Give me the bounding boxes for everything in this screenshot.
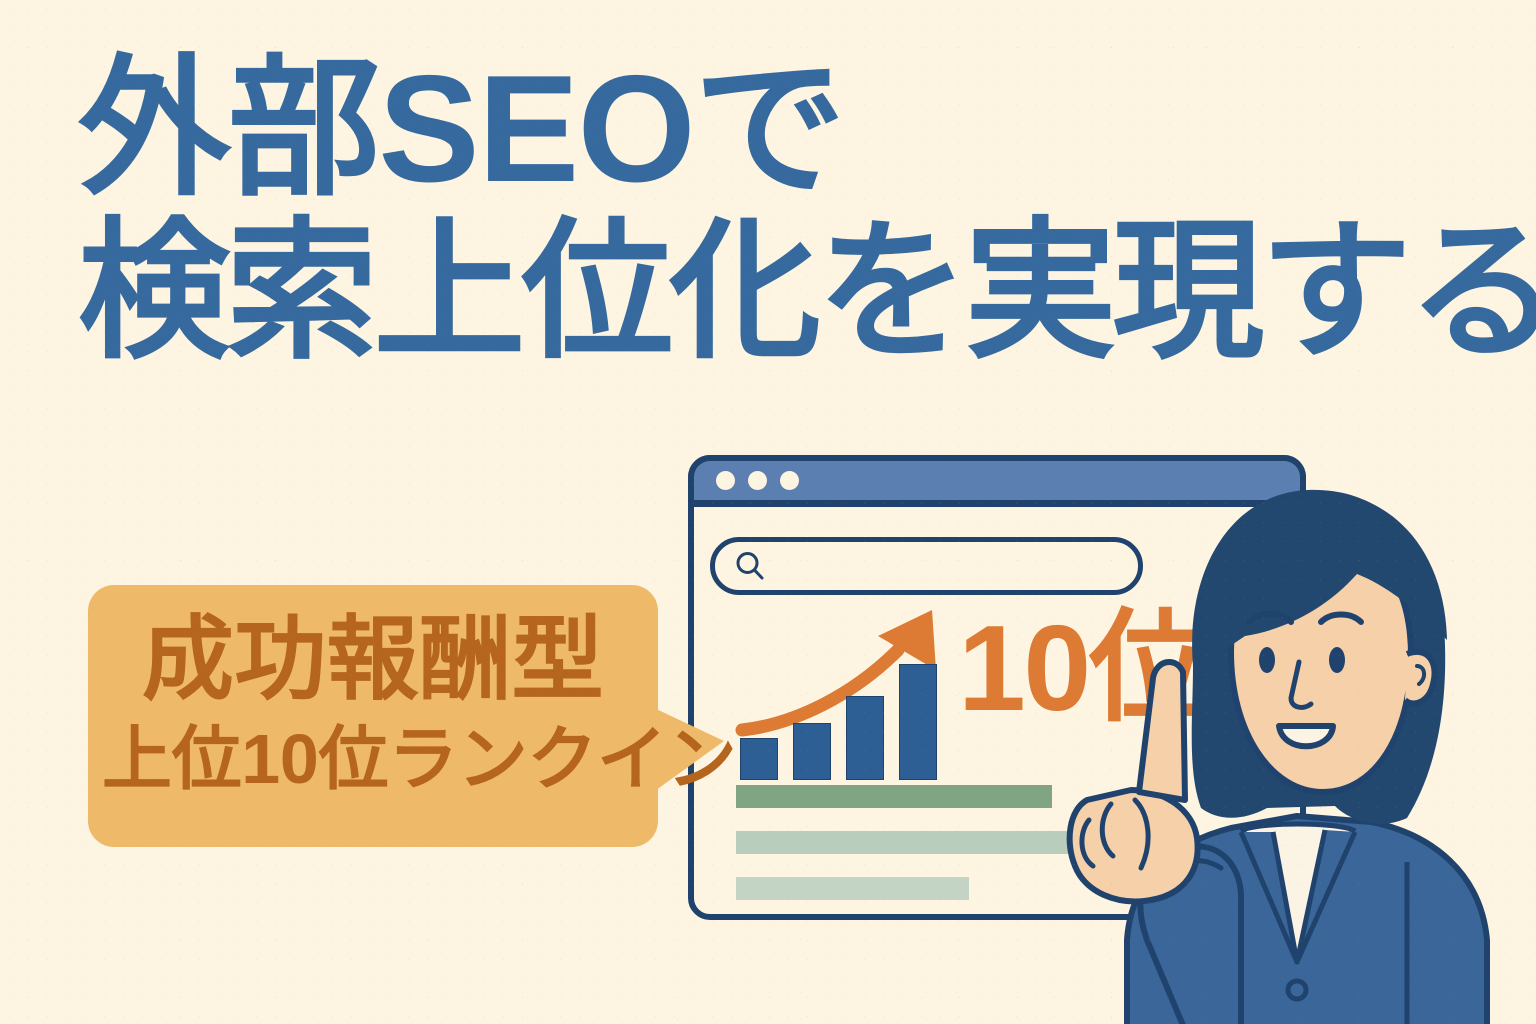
page-title: 外部SEOで 検索上位化を実現する: [78, 52, 1536, 370]
chart-bar: [793, 723, 831, 780]
chart-bar: [899, 664, 937, 780]
woman-figure-icon: [1035, 470, 1535, 1024]
promo-badge: 成功報酬型 上位10位ランクイン: [88, 585, 658, 847]
badge-line-2: 上位10位ランクイン: [102, 722, 672, 798]
window-close-dot-icon[interactable]: [716, 471, 735, 490]
result-bar-3: [736, 877, 969, 900]
chart-bar: [846, 696, 884, 780]
pointing-hand-icon: [1070, 662, 1198, 901]
business-woman-illustration: [1035, 470, 1535, 1024]
headline-line-2: 検索上位化を実現する: [78, 215, 1536, 370]
chart-bar: [740, 738, 778, 780]
window-maximize-dot-icon[interactable]: [780, 471, 799, 490]
ranking-bar-chart: [740, 610, 990, 780]
woman-eye-left: [1259, 647, 1275, 673]
badge-line-1: 成功報酬型: [88, 611, 658, 710]
woman-ear: [1405, 652, 1435, 704]
chart-bars: [740, 664, 937, 780]
search-icon: [733, 549, 767, 583]
headline-line-1: 外部SEOで: [78, 52, 1536, 207]
promo-badge-body: 成功報酬型 上位10位ランクイン: [88, 585, 658, 847]
window-minimize-dot-icon[interactable]: [748, 471, 767, 490]
woman-eye-right: [1329, 647, 1345, 673]
poster-canvas: 外部SEOで 検索上位化を実現する 成功報酬型 上位10位ランクイン: [0, 0, 1536, 1024]
result-bar-1: [736, 785, 1052, 808]
